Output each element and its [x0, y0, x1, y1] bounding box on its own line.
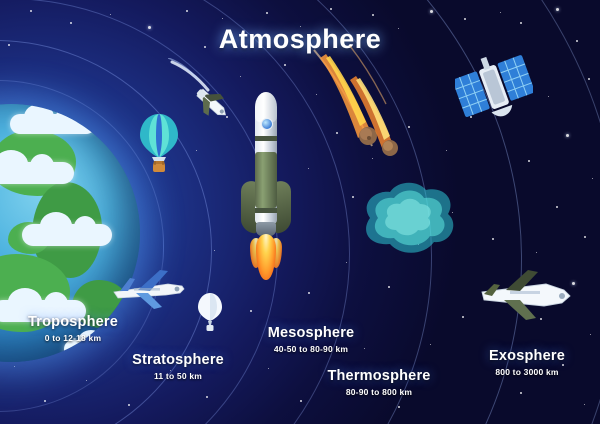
layer-range: 11 to 50 km [108, 371, 248, 381]
layer-name: Stratosphere [108, 352, 248, 368]
space-shuttle-right-icon [476, 266, 576, 324]
layer-name: Thermosphere [308, 368, 450, 384]
layer-range: 0 to 12-18 km [8, 333, 138, 343]
label-stratosphere: Stratosphere 11 to 50 km [108, 352, 248, 381]
label-troposphere: Troposphere 0 to 12-18 km [8, 314, 138, 343]
space-shuttle-icon [168, 58, 234, 120]
label-mesosphere: Mesosphere 40-50 to 80-90 km [233, 325, 389, 354]
rocket-icon [241, 96, 291, 266]
layer-name: Exosphere [462, 348, 592, 364]
aurora-cloud-icon [352, 178, 464, 260]
label-thermosphere: Thermosphere 80-90 to 800 km [308, 368, 450, 397]
layer-range: 800 to 3000 km [462, 367, 592, 377]
label-exosphere: Exosphere 800 to 3000 km [462, 348, 592, 377]
layer-range: 80-90 to 800 km [308, 387, 450, 397]
airplane-icon [104, 262, 190, 314]
meteor-group-icon [306, 46, 426, 196]
hot-air-balloon-icon [138, 112, 180, 174]
weather-balloon-icon [197, 292, 223, 332]
layer-name: Mesosphere [233, 325, 389, 341]
atmosphere-infographic: Atmosphere [0, 0, 600, 424]
layer-range: 40-50 to 80-90 km [233, 344, 389, 354]
satellite-icon [455, 48, 533, 126]
layer-name: Troposphere [8, 314, 138, 330]
